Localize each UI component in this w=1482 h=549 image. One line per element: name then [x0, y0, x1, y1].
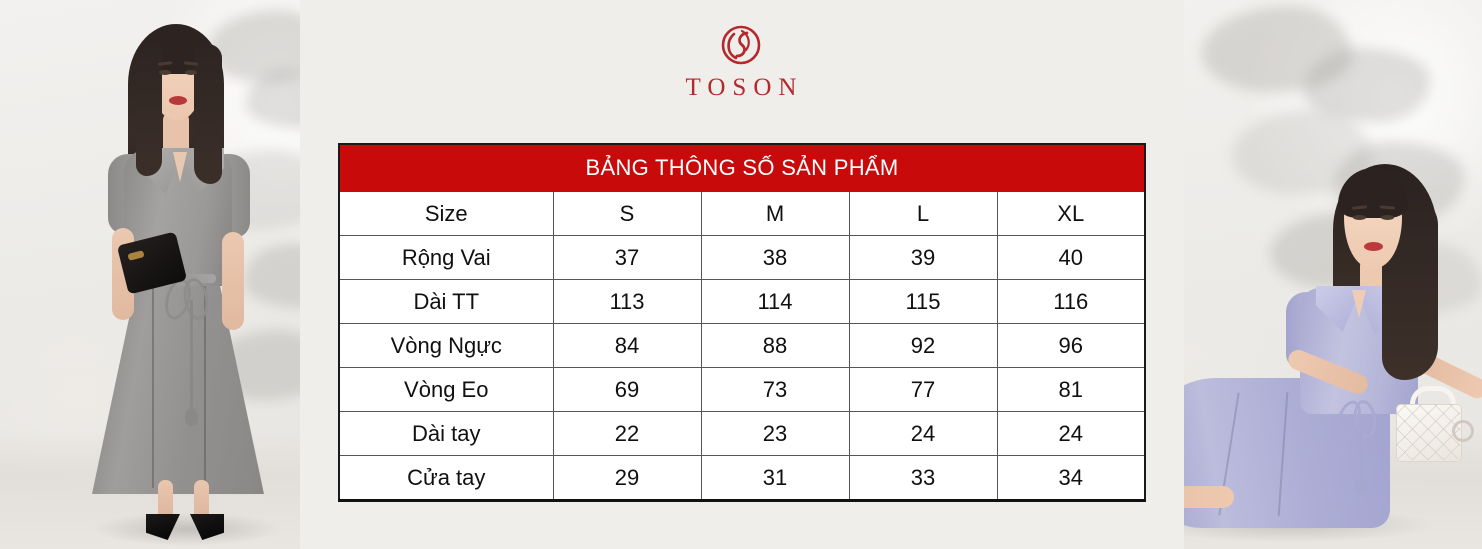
toson-monogram-icon [718, 22, 764, 68]
belt-tie-end [1355, 478, 1368, 495]
column-header-l: L [849, 192, 997, 236]
row-label: Vòng Eo [339, 368, 553, 412]
cell-m: 23 [701, 412, 849, 456]
column-header-xl: XL [997, 192, 1145, 236]
floor-shadow [92, 512, 282, 546]
table-title-row: BẢNG THÔNG SỐ SẢN PHẨM [339, 144, 1145, 192]
cell-m: 38 [701, 236, 849, 280]
size-chart-container: BẢNG THÔNG SỐ SẢN PHẨM Size S M L XL Rộn… [338, 143, 1146, 502]
column-header-s: S [553, 192, 701, 236]
belt-tie-end [185, 408, 198, 426]
cell-s: 37 [553, 236, 701, 280]
model-arm [222, 232, 244, 330]
row-label: Dài tay [339, 412, 553, 456]
cell-l: 24 [849, 412, 997, 456]
cell-l: 39 [849, 236, 997, 280]
cell-s: 29 [553, 456, 701, 501]
cell-s: 84 [553, 324, 701, 368]
cell-xl: 116 [997, 280, 1145, 324]
cell-xl: 96 [997, 324, 1145, 368]
belt-tie [190, 300, 193, 410]
table-title: BẢNG THÔNG SỐ SẢN PHẨM [339, 144, 1145, 192]
table-row: Vòng Ngực 84 88 92 96 [339, 324, 1145, 368]
brand-lockup: TOSON [0, 22, 1482, 102]
table-row: Dài TT 113 114 115 116 [339, 280, 1145, 324]
size-chart-table: BẢNG THÔNG SỐ SẢN PHẨM Size S M L XL Rộn… [338, 143, 1146, 502]
table-header-row: Size S M L XL [339, 192, 1145, 236]
cell-l: 33 [849, 456, 997, 501]
cell-xl: 40 [997, 236, 1145, 280]
cell-l: 77 [849, 368, 997, 412]
model-eye [1381, 215, 1394, 220]
cell-m: 88 [701, 324, 849, 368]
row-label: Dài TT [339, 280, 553, 324]
cell-l: 115 [849, 280, 997, 324]
belt-tie [1360, 418, 1363, 482]
cell-s: 113 [553, 280, 701, 324]
skirt-pleat [152, 286, 154, 488]
cell-m: 73 [701, 368, 849, 412]
table-row: Cửa tay 29 31 33 34 [339, 456, 1145, 501]
cell-m: 31 [701, 456, 849, 501]
product-size-chart-banner: TOSON BẢNG THÔNG SỐ SẢN PHẨM Size S M L … [0, 0, 1482, 549]
table-row: Vòng Eo 69 73 77 81 [339, 368, 1145, 412]
table-row: Dài tay 22 23 24 24 [339, 412, 1145, 456]
model-lips [1364, 242, 1383, 251]
handbag-charm [1452, 420, 1474, 442]
row-label: Cửa tay [339, 456, 553, 501]
cell-xl: 24 [997, 412, 1145, 456]
cell-s: 69 [553, 368, 701, 412]
handbag-quilting [1396, 404, 1460, 460]
cell-l: 92 [849, 324, 997, 368]
row-label: Vòng Ngực [339, 324, 553, 368]
cell-m: 114 [701, 280, 849, 324]
cell-xl: 81 [997, 368, 1145, 412]
model-eye [1353, 215, 1366, 220]
table-row: Rộng Vai 37 38 39 40 [339, 236, 1145, 280]
column-header-m: M [701, 192, 849, 236]
cell-s: 22 [553, 412, 701, 456]
row-label: Rộng Vai [339, 236, 553, 280]
brand-name: TOSON [0, 74, 1482, 102]
column-header-size: Size [339, 192, 553, 236]
cell-xl: 34 [997, 456, 1145, 501]
